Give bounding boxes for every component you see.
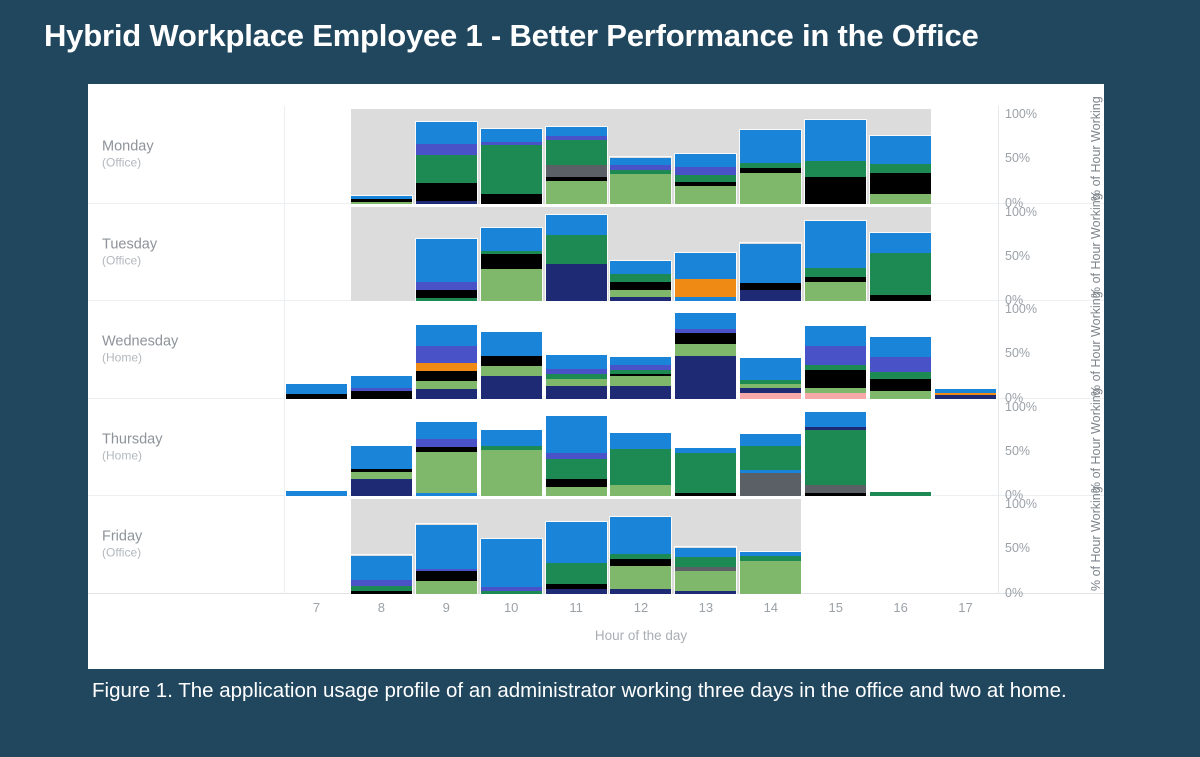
bar-segment-black	[870, 379, 931, 391]
stacked-bar[interactable]	[416, 422, 477, 496]
bar-segment-light_green	[675, 186, 736, 204]
bar-segment-periwinkle	[805, 346, 866, 365]
y-tick-label: 100%	[1005, 107, 1037, 121]
bar-segment-green	[870, 372, 931, 379]
bar-segment-blue	[481, 129, 542, 142]
chart-row: Thursday(Home)0%50%100%% of Hour Working	[88, 399, 1104, 497]
bar-segment-light_green	[416, 452, 477, 494]
bar-segment-light_green	[610, 566, 671, 589]
stacked-bar[interactable]	[286, 384, 347, 398]
bar-segment-blue	[675, 253, 736, 279]
bar-segment-green	[546, 563, 607, 584]
bar-segment-blue	[740, 244, 801, 284]
stacked-bar[interactable]	[805, 412, 866, 496]
bar-segment-navy	[351, 479, 412, 496]
bar-segment-green	[740, 446, 801, 471]
row-label-day: Wednesday	[102, 333, 178, 351]
stacked-bar[interactable]	[675, 154, 736, 204]
bar-segment-green	[805, 268, 866, 277]
bar-segment-light_green	[481, 450, 542, 496]
bar-segment-blue	[546, 416, 607, 452]
bar-segment-black	[805, 177, 866, 204]
stacked-bar[interactable]	[481, 129, 542, 203]
stacked-bar[interactable]	[675, 253, 736, 301]
bar-segment-light_green	[610, 485, 671, 496]
bar-segment-green	[805, 430, 866, 485]
bar-segment-green	[870, 253, 931, 295]
stacked-bar[interactable]	[546, 355, 607, 398]
bar-segment-light_green	[870, 391, 931, 398]
bar-segment-blue	[286, 384, 347, 394]
y-axis: 0%50%100%% of Hour Working	[998, 106, 1104, 204]
bar-segment-blue	[546, 127, 607, 136]
row-label-location: (Office)	[102, 546, 142, 561]
stacked-bar[interactable]	[675, 547, 736, 593]
bar-segment-gray	[805, 485, 866, 494]
bar-segment-light_green	[805, 282, 866, 301]
stacked-bar[interactable]	[805, 326, 866, 399]
stacked-bar[interactable]	[416, 524, 477, 593]
bar-segment-blue	[805, 221, 866, 268]
bar-segment-blue	[416, 325, 477, 346]
row-label-friday: Friday(Office)	[102, 528, 142, 561]
stacked-bar[interactable]	[481, 430, 542, 496]
bar-segment-navy	[416, 389, 477, 399]
stacked-bar[interactable]	[546, 416, 607, 496]
bar-segment-blue	[610, 517, 671, 553]
bar-segment-gray	[546, 165, 607, 177]
bar-segment-light_green	[416, 381, 477, 389]
bar-segment-light_green	[610, 376, 671, 386]
stacked-bar[interactable]	[481, 539, 542, 594]
bar-segment-black	[805, 370, 866, 388]
stacked-bar[interactable]	[740, 130, 801, 203]
row-label-day: Thursday	[102, 430, 162, 448]
bar-segment-light_green	[740, 561, 801, 594]
stacked-bar[interactable]	[610, 261, 671, 301]
row-label-thursday: Thursday(Home)	[102, 430, 162, 463]
bar-segment-periwinkle	[675, 167, 736, 175]
bar-segment-navy	[740, 290, 801, 302]
bar-segment-blue	[416, 422, 477, 440]
bar-segment-black	[351, 591, 412, 594]
x-tick-label: 13	[699, 600, 713, 615]
row-plot	[284, 301, 998, 399]
bar-segment-green	[481, 145, 542, 194]
stacked-bar[interactable]	[870, 337, 931, 399]
bar-segment-black	[546, 479, 607, 487]
bar-segment-blue	[416, 239, 477, 281]
x-tick-label: 11	[569, 600, 583, 615]
stacked-bar[interactable]	[416, 122, 477, 203]
stacked-bar[interactable]	[416, 239, 477, 301]
bar-segment-blue	[546, 522, 607, 563]
bar-segment-blue	[481, 332, 542, 356]
chart-area: Monday(Office)0%50%100%% of Hour Working…	[88, 84, 1104, 669]
stacked-bar[interactable]	[610, 357, 671, 399]
bar-segment-green	[805, 161, 866, 177]
y-axis-title: % of Hour Working	[1089, 206, 1103, 298]
figure-card: Monday(Office)0%50%100%% of Hour Working…	[88, 84, 1104, 669]
bar-segment-blue	[610, 433, 671, 449]
bar-segment-gray	[740, 473, 801, 496]
stacked-bar[interactable]	[740, 243, 801, 301]
stacked-bar[interactable]	[610, 517, 671, 593]
bar-segment-green	[675, 453, 736, 494]
bar-segment-green	[481, 591, 542, 594]
y-tick-label: 100%	[1005, 205, 1037, 219]
stacked-bar[interactable]	[740, 358, 801, 399]
bar-segment-blue	[740, 130, 801, 163]
bar-segment-blue	[805, 326, 866, 346]
stacked-bar[interactable]	[546, 215, 607, 301]
bar-segment-navy	[481, 376, 542, 399]
stacked-bar[interactable]	[610, 157, 671, 203]
x-tick-label: 15	[828, 600, 842, 615]
row-plot	[284, 496, 998, 594]
bar-segment-green	[675, 175, 736, 182]
stacked-bar[interactable]	[675, 448, 736, 496]
bar-segment-black	[416, 571, 477, 581]
bar-segment-green	[675, 557, 736, 567]
row-plot	[284, 106, 998, 204]
bar-segment-green	[610, 274, 671, 282]
bar-segment-black	[610, 559, 671, 566]
row-label-location: (Home)	[102, 448, 162, 463]
x-tick-label: 9	[443, 600, 450, 615]
x-axis-title: Hour of the day	[284, 628, 998, 643]
stacked-bar[interactable]	[740, 552, 801, 594]
bar-segment-black	[416, 290, 477, 298]
y-axis: 0%50%100%% of Hour Working	[998, 399, 1104, 497]
bar-segment-periwinkle	[416, 439, 477, 447]
plot-left-divider	[284, 204, 285, 302]
bar-segment-green	[610, 449, 671, 485]
bar-segment-black	[610, 282, 671, 290]
bar-segment-blue	[416, 122, 477, 144]
bar-segment-black	[416, 183, 477, 201]
x-tick-label: 10	[504, 600, 518, 615]
stacked-bar[interactable]	[870, 233, 931, 301]
bar-segment-periwinkle	[416, 144, 477, 155]
stacked-bar[interactable]	[610, 433, 671, 496]
plot-left-divider	[284, 496, 285, 594]
stacked-bar[interactable]	[351, 446, 412, 496]
bar-segment-light_green	[416, 581, 477, 593]
stacked-bar[interactable]	[351, 376, 412, 399]
bar-segment-blue	[351, 376, 412, 388]
bar-segment-navy	[675, 356, 736, 398]
bar-segment-blue	[675, 548, 736, 558]
bar-segment-blue	[546, 215, 607, 234]
bar-segment-green	[546, 235, 607, 264]
bar-segment-blue	[805, 120, 866, 161]
stacked-bar[interactable]	[740, 434, 801, 496]
bar-segment-periwinkle	[870, 357, 931, 372]
y-tick-label: 50%	[1005, 444, 1030, 458]
bar-segment-blue	[610, 158, 671, 165]
y-axis-title: % of Hour Working	[1089, 401, 1103, 493]
stacked-bar[interactable]	[481, 332, 542, 398]
slide: Hybrid Workplace Employee 1 - Better Per…	[0, 0, 1200, 757]
bar-segment-light_green	[675, 344, 736, 356]
row-label-wednesday: Wednesday(Home)	[102, 333, 178, 366]
bar-segment-blue	[805, 412, 866, 427]
x-tick-label: 8	[378, 600, 385, 615]
y-tick-label: 100%	[1005, 302, 1037, 316]
y-axis: 0%50%100%% of Hour Working	[998, 496, 1104, 594]
bar-segment-blue	[675, 154, 736, 167]
bar-segment-light_green	[546, 379, 607, 386]
chart-row: Wednesday(Home)0%50%100%% of Hour Workin…	[88, 301, 1104, 399]
bar-segment-navy	[546, 264, 607, 301]
y-tick-label: 100%	[1005, 497, 1037, 511]
bar-segment-blue	[610, 357, 671, 365]
bar-segment-blue	[610, 261, 671, 273]
y-tick-label: 50%	[1005, 541, 1030, 555]
y-axis: 0%50%100%% of Hour Working	[998, 204, 1104, 302]
plot-left-divider	[284, 106, 285, 204]
bar-segment-black	[675, 333, 736, 344]
bar-segment-green	[870, 164, 931, 174]
bar-segment-blue	[870, 337, 931, 357]
plot-left-divider	[284, 399, 285, 497]
bar-segment-blue	[870, 136, 931, 163]
bar-segment-periwinkle	[416, 346, 477, 363]
stacked-bar[interactable]	[870, 136, 931, 203]
bar-segment-green	[416, 155, 477, 183]
bar-segment-blue	[740, 358, 801, 380]
bar-segment-navy	[610, 386, 671, 398]
bar-segment-black	[481, 356, 542, 366]
bar-segment-light_green	[675, 571, 736, 591]
y-axis: 0%50%100%% of Hour Working	[998, 301, 1104, 399]
bar-segment-black	[481, 194, 542, 204]
row-label-day: Friday	[102, 528, 142, 546]
bar-segment-black	[416, 371, 477, 381]
chart-row: Friday(Office)0%50%100%% of Hour Working	[88, 496, 1104, 594]
slide-title: Hybrid Workplace Employee 1 - Better Per…	[44, 18, 1174, 54]
bar-segment-black	[870, 173, 931, 193]
bar-segment-blue	[675, 313, 736, 329]
bar-segment-light_green	[481, 366, 542, 376]
figure-caption: Figure 1. The application usage profile …	[92, 676, 1102, 706]
bar-segment-blue	[351, 556, 412, 581]
row-label-tuesday: Tuesday(Office)	[102, 235, 157, 268]
bar-segment-blue	[740, 434, 801, 446]
y-tick-label: 100%	[1005, 400, 1037, 414]
bar-segment-green	[546, 459, 607, 479]
bar-segment-periwinkle	[416, 282, 477, 291]
stacked-bar[interactable]	[805, 221, 866, 301]
row-label-location: (Office)	[102, 253, 157, 268]
stacked-bar[interactable]	[351, 555, 412, 593]
bar-segment-black	[351, 391, 412, 398]
x-tick-label: 7	[313, 600, 320, 615]
x-axis: 7891011121314151617	[284, 598, 998, 624]
x-tick-label: 14	[764, 600, 778, 615]
bar-segment-light_green	[610, 174, 671, 203]
bar-segment-black	[481, 254, 542, 269]
stacked-bar[interactable]	[805, 120, 866, 203]
bar-segment-light_green	[546, 487, 607, 496]
bar-segment-light_green	[610, 290, 671, 297]
stacked-bar[interactable]	[416, 325, 477, 398]
row-label-day: Tuesday	[102, 235, 157, 253]
y-tick-label: 50%	[1005, 151, 1030, 165]
bar-segment-blue	[481, 228, 542, 250]
plot-left-divider	[284, 301, 285, 399]
bar-segment-blue	[481, 539, 542, 588]
y-axis-title: % of Hour Working	[1089, 109, 1103, 201]
bar-segment-light_green	[740, 173, 801, 204]
bar-segment-blue	[870, 233, 931, 253]
y-axis-title: % of Hour Working	[1089, 304, 1103, 396]
y-tick-label: 50%	[1005, 346, 1030, 360]
stacked-bar[interactable]	[546, 127, 607, 203]
bar-segment-navy	[610, 589, 671, 593]
bar-segment-blue	[416, 525, 477, 569]
stacked-bar[interactable]	[481, 228, 542, 301]
bar-segment-navy	[546, 386, 607, 398]
row-plot	[284, 399, 998, 497]
x-tick-label: 16	[893, 600, 907, 615]
bar-segment-green	[546, 140, 607, 165]
y-tick-label: 50%	[1005, 249, 1030, 263]
x-tick-label: 12	[634, 600, 648, 615]
row-label-location: (Office)	[102, 156, 154, 171]
bar-segment-blue	[351, 446, 412, 469]
chart-row: Monday(Office)0%50%100%% of Hour Working	[88, 106, 1104, 204]
row-label-monday: Monday(Office)	[102, 138, 154, 171]
stacked-bar[interactable]	[675, 313, 736, 399]
stacked-bar[interactable]	[935, 389, 996, 399]
bar-segment-light_green	[351, 472, 412, 479]
bar-segment-light_green	[546, 181, 607, 203]
row-plot	[284, 204, 998, 302]
bar-segment-navy	[546, 589, 607, 593]
stacked-bar[interactable]	[546, 522, 607, 594]
x-tick-label: 17	[958, 600, 972, 615]
bar-segment-navy	[675, 591, 736, 594]
row-label-location: (Home)	[102, 351, 178, 366]
y-axis-title: % of Hour Working	[1089, 499, 1103, 591]
bar-segment-light_green	[481, 269, 542, 301]
stacked-bar[interactable]	[351, 196, 412, 204]
row-label-day: Monday	[102, 138, 154, 156]
bar-segment-light_green	[870, 194, 931, 204]
chart-rows: Monday(Office)0%50%100%% of Hour Working…	[88, 106, 1104, 682]
y-tick-label: 0%	[1005, 586, 1023, 600]
bar-segment-blue	[481, 430, 542, 446]
bar-segment-orange	[675, 279, 736, 298]
bar-segment-blue	[546, 355, 607, 369]
chart-row: Tuesday(Office)0%50%100%% of Hour Workin…	[88, 204, 1104, 302]
bar-segment-orange	[416, 363, 477, 371]
